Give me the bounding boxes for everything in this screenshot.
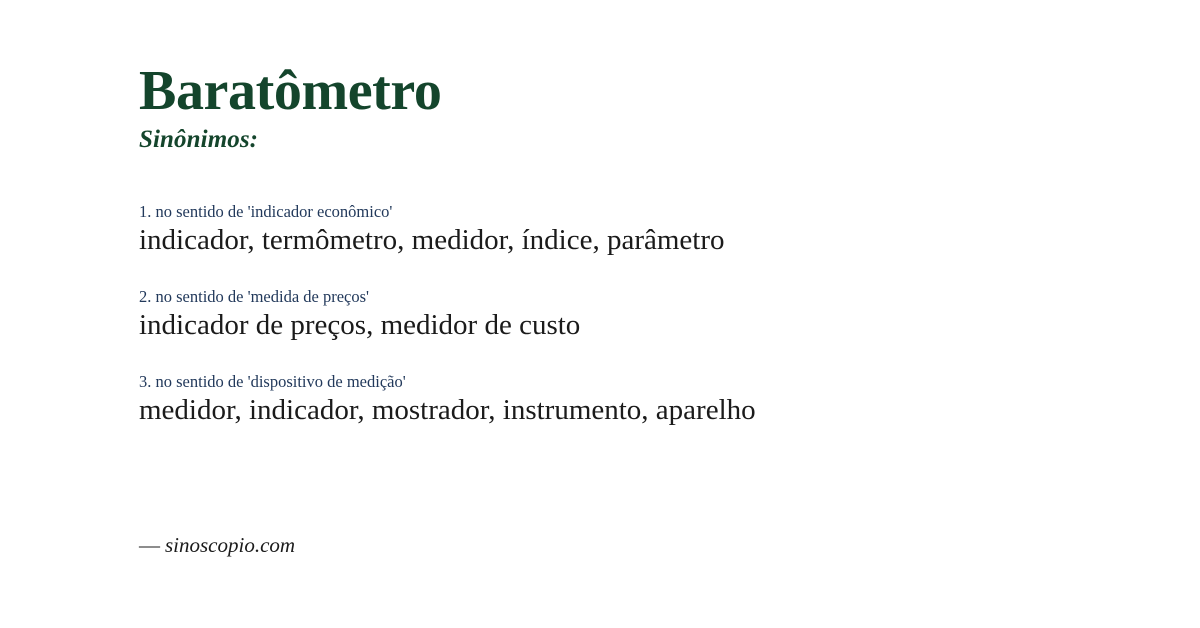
section-subtitle: Sinônimos: [139,126,1139,154]
sense-synonyms: indicador, termômetro, medidor, índice, … [139,223,1139,258]
sense-label: 1. no sentido de 'indicador econômico' [139,202,1139,223]
senses-list: 1. no sentido de 'indicador econômico' i… [139,202,1139,429]
page-title: Baratômetro [139,62,1139,120]
sense-synonyms: indicador de preços, medidor de custo [139,308,1139,343]
sense-label: 3. no sentido de 'dispositivo de medição… [139,372,1139,393]
em-dash: — [139,533,165,557]
sense-label: 2. no sentido de 'medida de preços' [139,287,1139,308]
sense-synonyms: medidor, indicador, mostrador, instrumen… [139,393,1139,428]
card-header: Baratômetro Sinônimos: [139,0,1139,154]
sense-block-2: 2. no sentido de 'medida de preços' indi… [139,287,1139,344]
sense-block-3: 3. no sentido de 'dispositivo de medição… [139,372,1139,429]
attribution: —sinoscopio.com [139,533,295,558]
source-name: sinoscopio.com [165,533,295,557]
card-content: Baratômetro Sinônimos: 1. no sentido de … [139,0,1139,429]
synonym-card: Baratômetro Sinônimos: 1. no sentido de … [0,0,1200,628]
sense-block-1: 1. no sentido de 'indicador econômico' i… [139,202,1139,259]
card-footer: —sinoscopio.com [139,533,295,558]
